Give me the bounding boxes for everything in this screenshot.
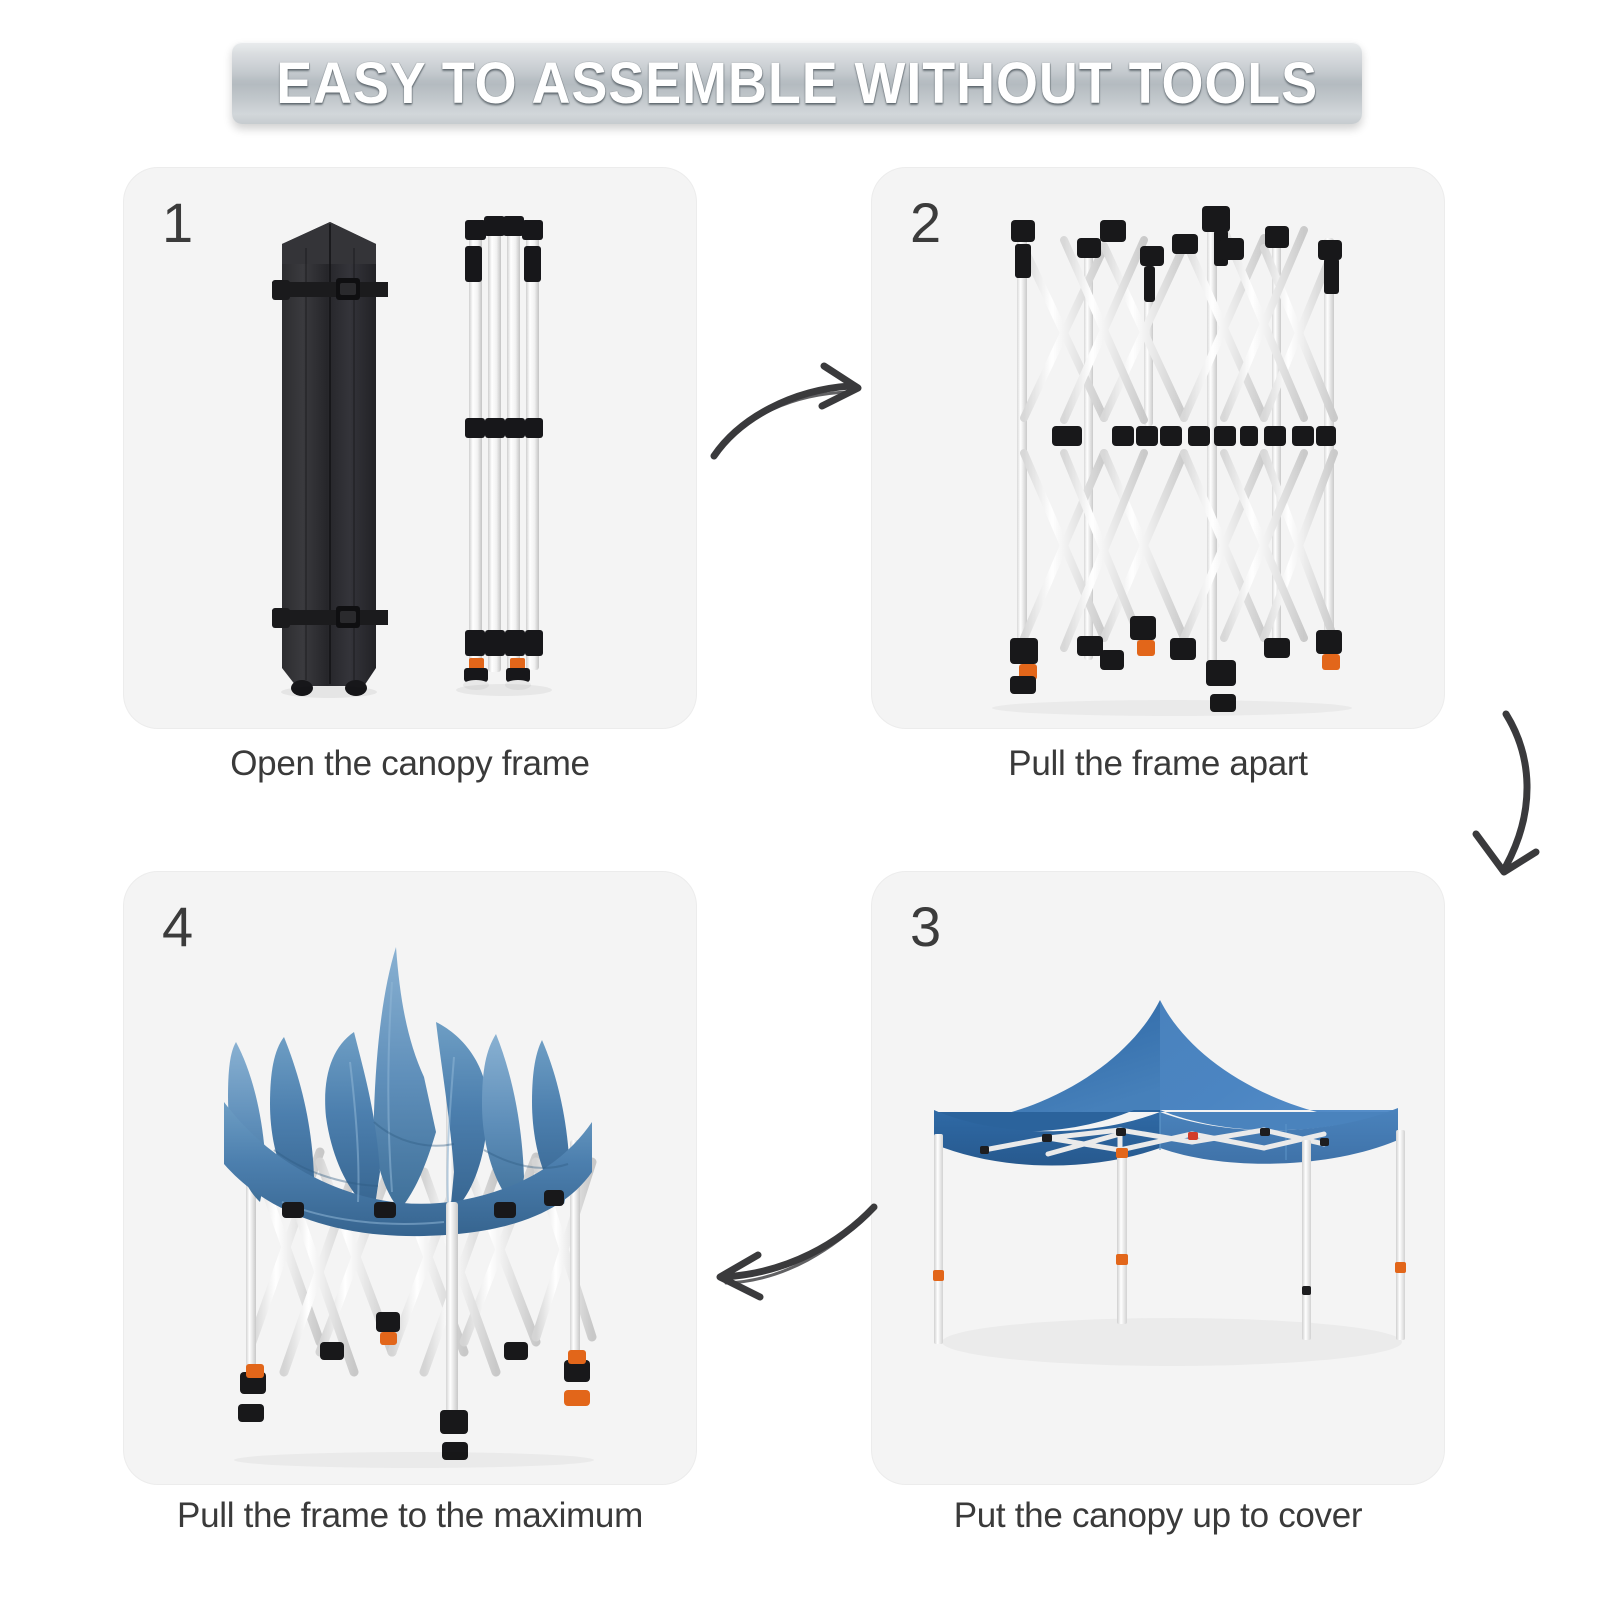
step-number-2: 2 (910, 190, 941, 255)
header-banner: EASY TO ASSEMBLE WITHOUT TOOLS (232, 42, 1362, 124)
arrow-step3-to-step4 (700, 1185, 890, 1305)
arrow-step1-to-step2 (700, 352, 880, 472)
step-card-4: 4 (124, 872, 696, 1484)
illustration-expanded-scissor-frame (872, 168, 1444, 728)
step-card-3: 3 (872, 872, 1444, 1484)
step-number-1: 1 (162, 190, 193, 255)
illustration-assembled-blue-canopy-tent (872, 872, 1444, 1484)
pole-orange-collars (933, 1148, 1406, 1295)
page-title: EASY TO ASSEMBLE WITHOUT TOOLS (276, 50, 1318, 117)
banner-plate: EASY TO ASSEMBLE WITHOUT TOOLS (232, 42, 1362, 124)
step-card-2: 2 (872, 168, 1444, 728)
carry-bag (272, 222, 388, 698)
step-number-3: 3 (910, 894, 941, 959)
step-card-1: 1 (124, 168, 696, 728)
folded-frame-bundle (456, 216, 552, 696)
step-caption-3: Put the canopy up to cover (872, 1496, 1444, 1536)
step-caption-1: Open the canopy frame (124, 744, 696, 784)
draped-canopy-fabric (224, 947, 592, 1236)
illustration-canopy-bag-and-folded-frame (124, 168, 696, 728)
illustration-frame-with-draped-blue-canopy (124, 872, 696, 1484)
arrow-step2-to-step3 (1440, 700, 1600, 885)
step-number-4: 4 (162, 894, 193, 959)
step-caption-2: Pull the frame apart (872, 744, 1444, 784)
step-caption-4: Pull the frame to the maximum (124, 1496, 696, 1536)
mid-connectors (1052, 426, 1336, 446)
